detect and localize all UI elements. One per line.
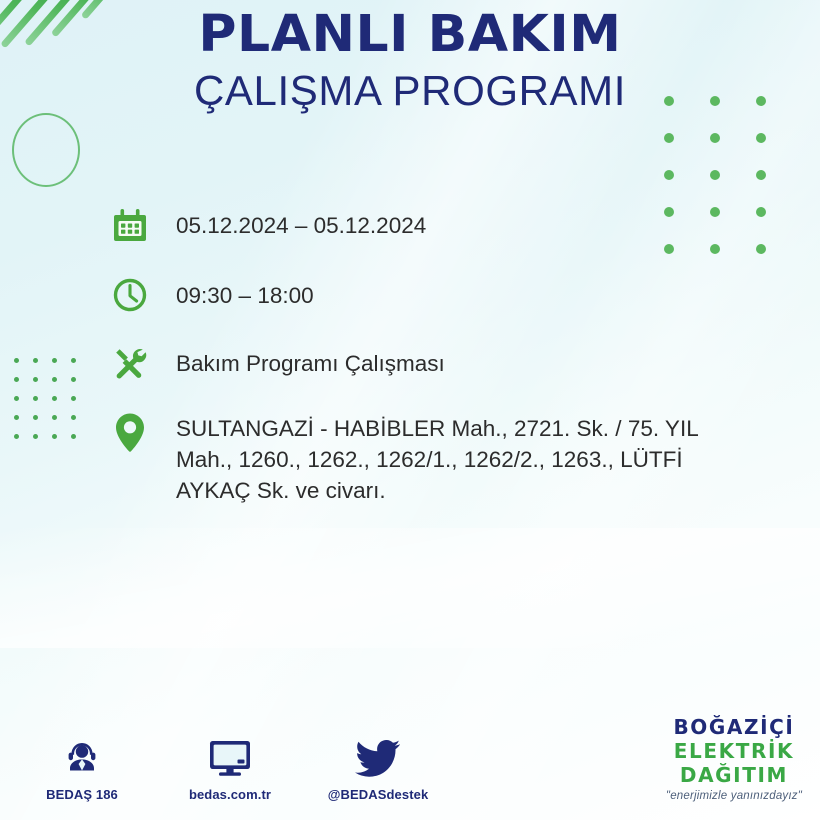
decor-dot — [756, 170, 766, 180]
decor-dot — [52, 434, 57, 439]
logo-tagline: "enerjimizle yanınızdayız" — [666, 791, 802, 803]
footer-contact-bar: BEDAŞ 186 bedas.com.tr @BEDASdestek — [34, 734, 426, 802]
logo-line-dagitim: DAĞITIM — [666, 765, 802, 785]
monitor-icon — [207, 734, 253, 778]
location-pin-icon — [108, 411, 152, 455]
decor-dot — [71, 358, 76, 363]
decor-dot — [33, 377, 38, 382]
decor-dot — [756, 133, 766, 143]
info-row-time: 09:30 – 18:00 — [108, 273, 760, 317]
clock-icon — [108, 273, 152, 317]
decor-dot — [664, 170, 674, 180]
info-row-date: 05.12.2024 – 05.12.2024 — [108, 203, 760, 247]
footer-item-call-center[interactable]: BEDAŞ 186 — [34, 734, 130, 802]
decor-dot — [14, 396, 19, 401]
poster-header: PLANLI BAKIM ÇALIŞMA PROGRAMI — [0, 8, 820, 114]
decor-dot — [14, 358, 19, 363]
time-range-text: 09:30 – 18:00 — [152, 273, 314, 311]
info-row-work-type: Bakım Programı Çalışması — [108, 341, 760, 385]
decor-dot — [52, 358, 57, 363]
decor-dot — [71, 415, 76, 420]
decor-dot — [71, 434, 76, 439]
decor-dot — [71, 377, 76, 382]
footer-item-website[interactable]: bedas.com.tr — [182, 734, 278, 802]
planned-maintenance-poster: PLANLI BAKIM ÇALIŞMA PROGRAMI — [0, 0, 820, 820]
decor-dot — [52, 377, 57, 382]
info-row-location: SULTANGAZİ - HABİBLER Mah., 2721. Sk. / … — [108, 411, 760, 506]
decor-dot — [14, 377, 19, 382]
decor-dot — [33, 396, 38, 401]
decor-dot — [14, 415, 19, 420]
footer-label-call-center: BEDAŞ 186 — [46, 787, 118, 802]
page-title: PLANLI BAKIM — [0, 8, 820, 62]
decor-dot — [710, 170, 720, 180]
dot-grid-left-decoration — [14, 358, 90, 453]
info-list: 05.12.2024 – 05.12.2024 09:30 – 18:00 — [108, 203, 760, 528]
decor-dot — [52, 415, 57, 420]
work-type-text: Bakım Programı Çalışması — [152, 341, 445, 379]
decor-dot — [14, 434, 19, 439]
background-sheen-band — [0, 528, 820, 648]
decor-dot — [52, 396, 57, 401]
logo-line-elektrik: ELEKTRİK — [666, 741, 802, 761]
decor-dot — [664, 133, 674, 143]
calendar-icon — [108, 203, 152, 247]
logo-line-bogazici: BOĞAZİÇİ — [666, 717, 802, 737]
decor-dot — [710, 133, 720, 143]
location-text: SULTANGAZİ - HABİBLER Mah., 2721. Sk. / … — [152, 411, 760, 506]
footer-item-twitter[interactable]: @BEDASdestek — [330, 734, 426, 802]
decor-dot — [33, 434, 38, 439]
footer-label-twitter: @BEDASdestek — [328, 787, 429, 802]
bedas-logo: BOĞAZİÇİ ELEKTRİK DAĞITIM "enerjimizle y… — [666, 717, 802, 803]
decor-dot — [33, 415, 38, 420]
page-subtitle: ÇALIŞMA PROGRAMI — [0, 68, 820, 114]
circle-outline-decoration — [12, 113, 80, 187]
twitter-bird-icon — [355, 734, 401, 778]
footer-label-website: bedas.com.tr — [189, 787, 271, 802]
decor-dot — [33, 358, 38, 363]
tools-icon — [108, 341, 152, 385]
decor-dot — [71, 396, 76, 401]
date-range-text: 05.12.2024 – 05.12.2024 — [152, 203, 426, 241]
call-center-agent-icon — [61, 734, 103, 778]
